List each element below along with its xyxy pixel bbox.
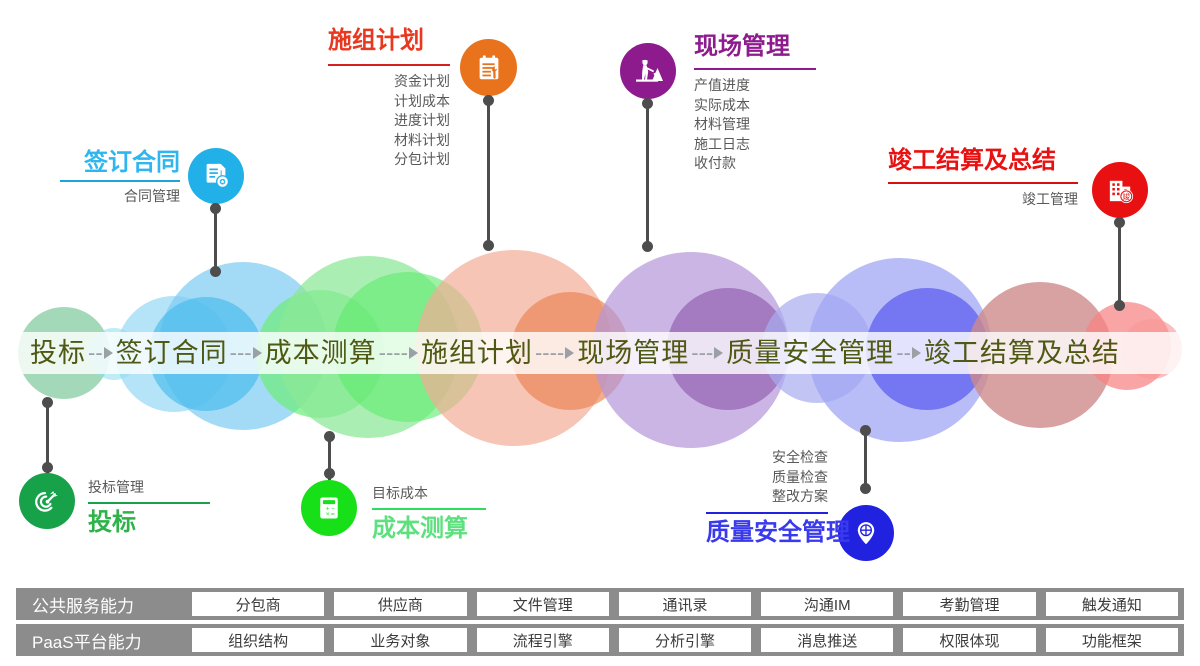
capability-bar-public-chips: 分包商 供应商 文件管理 通讯录 沟通IM 考勤管理 触发通知	[192, 592, 1178, 616]
flow-arrow-1: --	[88, 330, 114, 376]
callout-site-sub-4: 收付款	[694, 154, 816, 174]
clipboard-wrench-icon	[474, 53, 504, 83]
callout-bid-sub-0: 投标管理	[88, 478, 210, 498]
chip-paas-6[interactable]: 功能框架	[1046, 628, 1178, 652]
plan-icon-circle[interactable]	[460, 39, 517, 96]
completion-connector	[1118, 220, 1121, 308]
callout-site-sub-0: 产值进度	[694, 76, 816, 96]
capability-bars: 公共服务能力 分包商 供应商 文件管理 通讯录 沟通IM 考勤管理 触发通知 P…	[16, 588, 1184, 660]
capability-bar-paas-chips: 组织结构 业务对象 流程引擎 分析引擎 消息推送 权限体现 功能框架	[192, 628, 1178, 652]
callout-contract-sub-0: 合同管理	[60, 187, 180, 207]
chip-paas-2[interactable]: 流程引擎	[477, 628, 609, 652]
chip-public-4[interactable]: 沟通IM	[761, 592, 893, 616]
cost-connector-knob-top	[324, 431, 335, 442]
callout-plan-sub-1: 计划成本	[328, 92, 450, 112]
chip-public-1[interactable]: 供应商	[334, 592, 466, 616]
chip-public-0[interactable]: 分包商	[192, 592, 324, 616]
callout-quality-sub-2: 整改方案	[706, 487, 828, 507]
svg-text:×: ×	[326, 511, 330, 518]
flow-step-cost[interactable]: 成本测算	[265, 330, 377, 376]
callout-site-sub-3: 施工日志	[694, 135, 816, 155]
flow-step-quality[interactable]: 质量安全管理	[726, 330, 894, 376]
callout-completion: 竣工结算及总结 竣工管理	[888, 146, 1078, 210]
cost-connector-knob-bottom	[324, 468, 335, 479]
callout-site-sub-2: 材料管理	[694, 115, 816, 135]
callout-bid-rule	[88, 502, 210, 504]
completion-connector-knob-bottom	[1114, 300, 1125, 311]
flow-arrow-3: ----	[379, 330, 419, 376]
callout-site-sub-1: 实际成本	[694, 96, 816, 116]
cost-icon-circle[interactable]: + − × =	[301, 480, 357, 536]
chip-paas-0[interactable]: 组织结构	[192, 628, 324, 652]
contract-icon-circle[interactable]	[188, 148, 244, 204]
completion-connector-knob-top	[1114, 217, 1125, 228]
callout-cost: 目标成本 成本测算	[372, 484, 502, 544]
plan-connector-knob-bottom	[483, 240, 494, 251]
callout-site-rule	[694, 68, 816, 70]
quality-connector-knob-top	[860, 425, 871, 436]
callout-plan-sub-3: 材料计划	[328, 131, 450, 151]
bid-connector-knob-top	[42, 397, 53, 408]
diagram-canvas: 投标 -- 签订合同 --- 成本测算 ---- 施组计划 ---- 现场管理 …	[0, 0, 1200, 666]
capability-bar-public: 公共服务能力 分包商 供应商 文件管理 通讯录 沟通IM 考勤管理 触发通知	[16, 588, 1184, 620]
plan-connector-knob-top	[483, 95, 494, 106]
worker-digging-icon	[632, 55, 664, 87]
callout-completion-title: 竣工结算及总结	[888, 146, 1078, 176]
callout-bid: 投标管理 投标	[88, 478, 210, 538]
flow-step-contract[interactable]: 签订合同	[116, 330, 228, 376]
site-connector-knob-top	[642, 98, 653, 109]
callout-cost-rule	[372, 508, 486, 510]
building-completion-icon: 竣	[1105, 175, 1136, 206]
callout-plan-sublist: 资金计划 计划成本 进度计划 材料计划 分包计划	[328, 72, 450, 170]
site-connector-knob-bottom	[642, 241, 653, 252]
target-dart-icon	[32, 486, 63, 517]
flow-step-bid[interactable]: 投标	[30, 330, 86, 376]
chip-public-5[interactable]: 考勤管理	[903, 592, 1035, 616]
svg-text:竣: 竣	[1122, 191, 1130, 201]
chip-public-6[interactable]: 触发通知	[1046, 592, 1178, 616]
callout-site-title: 现场管理	[694, 32, 816, 62]
contract-connector	[214, 206, 217, 274]
location-pin-icon	[852, 519, 880, 547]
flow-arrow-2: ---	[230, 330, 263, 376]
callout-completion-rule	[888, 182, 1078, 184]
callout-cost-title: 成本测算	[372, 514, 502, 544]
calculator-icon: + − × =	[315, 494, 343, 522]
bid-connector-knob-bottom	[42, 462, 53, 473]
callout-quality-rule	[706, 512, 828, 514]
callout-contract: 签订合同 合同管理	[60, 148, 180, 207]
callout-plan-title: 施组计划	[328, 26, 450, 56]
chip-paas-3[interactable]: 分析引擎	[619, 628, 751, 652]
quality-connector	[864, 428, 867, 490]
capability-bar-paas: PaaS平台能力 组织结构 业务对象 流程引擎 分析引擎 消息推送 权限体现 功…	[16, 624, 1184, 656]
callout-site-sublist: 产值进度 实际成本 材料管理 施工日志 收付款	[694, 76, 816, 174]
flow-arrow-6: --	[896, 330, 922, 376]
callout-contract-rule	[60, 180, 180, 182]
chip-public-3[interactable]: 通讯录	[619, 592, 751, 616]
callout-quality-sub-0: 安全检查	[706, 448, 828, 468]
site-connector	[646, 101, 649, 247]
callout-plan-sub-4: 分包计划	[328, 150, 450, 170]
callout-quality: 安全检查 质量检查 整改方案 质量安全管理	[706, 448, 828, 548]
capability-bar-public-label: 公共服务能力	[22, 592, 192, 617]
document-seal-icon	[201, 161, 231, 191]
contract-connector-knob-top	[210, 203, 221, 214]
callout-quality-sub-1: 质量检查	[706, 468, 828, 488]
process-flow: 投标 -- 签订合同 --- 成本测算 ---- 施组计划 ---- 现场管理 …	[0, 330, 1200, 376]
callout-bid-title: 投标	[88, 508, 210, 538]
chip-paas-5[interactable]: 权限体现	[903, 628, 1035, 652]
callout-quality-sublist: 安全检查 质量检查 整改方案	[706, 448, 828, 507]
capability-bar-paas-label: PaaS平台能力	[22, 628, 192, 653]
callout-contract-title: 签订合同	[60, 148, 180, 178]
flow-step-site[interactable]: 现场管理	[577, 330, 689, 376]
callout-quality-title: 质量安全管理	[706, 518, 828, 548]
plan-connector	[487, 98, 490, 246]
flow-arrow-4: ----	[535, 330, 575, 376]
callout-cost-sub-0: 目标成本	[372, 484, 486, 504]
quality-connector-knob-bottom	[860, 483, 871, 494]
callout-plan-rule	[328, 64, 450, 66]
contract-connector-knob-bottom	[210, 266, 221, 277]
callout-completion-sub-0: 竣工管理	[888, 190, 1078, 210]
chip-paas-1[interactable]: 业务对象	[334, 628, 466, 652]
flow-step-completion[interactable]: 竣工结算及总结	[924, 330, 1120, 376]
callout-plan-sub-2: 进度计划	[328, 111, 450, 131]
flow-arrow-5: ---	[691, 330, 724, 376]
svg-text:=: =	[331, 511, 335, 518]
chip-public-2[interactable]: 文件管理	[477, 592, 609, 616]
bid-icon-circle[interactable]	[19, 473, 75, 529]
callout-site: 现场管理 产值进度 实际成本 材料管理 施工日志 收付款	[694, 32, 816, 174]
site-icon-circle[interactable]	[620, 43, 676, 99]
callout-plan-sub-0: 资金计划	[328, 72, 450, 92]
flow-step-plan[interactable]: 施组计划	[421, 330, 533, 376]
completion-icon-circle[interactable]: 竣	[1092, 162, 1148, 218]
callout-plan: 施组计划 资金计划 计划成本 进度计划 材料计划 分包计划	[328, 26, 450, 170]
chip-paas-4[interactable]: 消息推送	[761, 628, 893, 652]
